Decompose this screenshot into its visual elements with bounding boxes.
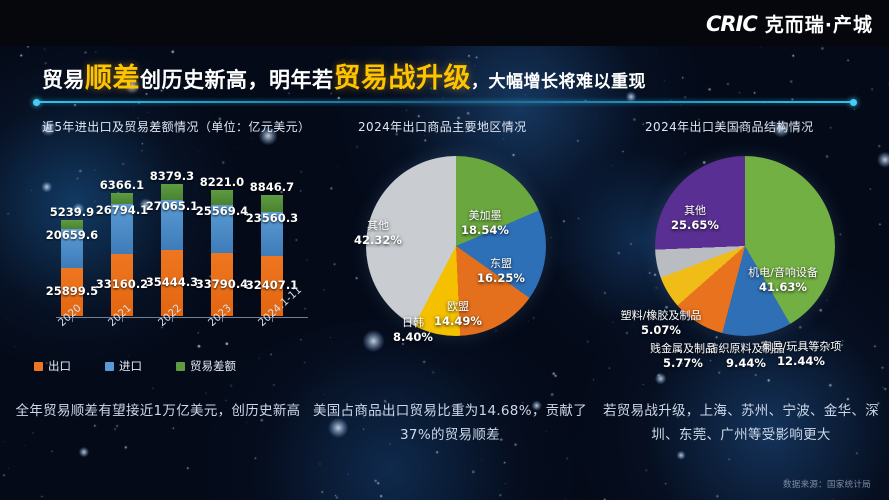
bar-segment-surplus[interactable]: 8379.3 — [161, 184, 183, 200]
pie-slice-value: 14.49% — [434, 314, 482, 328]
bar-value-label: 33790.4 — [196, 277, 248, 291]
pie-slice-name: 其他 — [671, 204, 719, 218]
bar-value-label: 23560.3 — [246, 211, 298, 225]
bar-segment-import[interactable]: 20659.6 — [61, 229, 83, 267]
legend-item[interactable]: 进口 — [105, 358, 142, 374]
pie-slice-value: 42.32% — [354, 233, 402, 247]
structure-pie-panel: 2024年出口美国商品结构情况 机电/音响设备41.63%家具/玩具等杂项12.… — [603, 118, 889, 380]
pie-slice-label: 塑料/橡胶及制品5.07% — [621, 309, 702, 337]
pie-slice-name: 塑料/橡胶及制品 — [621, 309, 702, 323]
pie-slice-value: 18.54% — [461, 223, 509, 237]
caption-city-impact: 若贸易战升级，上海、苏州、宁波、金华、深圳、东莞、广州等受影响更大 — [596, 400, 886, 447]
bar-chart-plot: 5239.920659.625899.520206366.126794.1331… — [30, 148, 300, 348]
bar-value-label: 6366.1 — [100, 178, 144, 192]
title-part-5: ，大幅增长将难以重现 — [471, 72, 646, 92]
bar-value-label: 27065.1 — [146, 199, 198, 213]
legend-swatch — [176, 362, 185, 371]
legend-swatch — [34, 362, 43, 371]
pie-slice-label: 日韩8.40% — [393, 316, 433, 344]
title-part-3: 创历史新高，明年若 — [140, 68, 334, 92]
bar-segment-surplus[interactable]: 8846.7 — [261, 195, 283, 211]
pie-slice-value: 5.77% — [650, 356, 716, 370]
bar-value-label: 20659.6 — [46, 228, 98, 242]
pie-slice-label: 机电/音响设备41.63% — [748, 266, 818, 294]
legend-label: 出口 — [48, 358, 71, 374]
title-part-2: 顺差 — [85, 63, 140, 94]
pie-slice-label: 美加墨18.54% — [461, 209, 509, 237]
pie-slice-name: 美加墨 — [461, 209, 509, 223]
data-source-note: 数据来源：国家统计局 — [783, 478, 871, 490]
bar-value-label: 8221.0 — [200, 175, 244, 189]
bar-value-label: 8379.3 — [150, 169, 194, 183]
legend-label: 贸易差额 — [190, 358, 236, 374]
pie-slice-value: 9.44% — [708, 356, 785, 370]
bar-chart-legend: 出口进口贸易差额 — [34, 358, 236, 374]
logo-name: 克而瑞·产城 — [765, 10, 873, 37]
bar-value-label: 25899.5 — [46, 284, 98, 298]
pie-slice-label: 其他42.32% — [354, 219, 402, 247]
region-pie-panel: 2024年出口商品主要地区情况 美加墨18.54%东盟16.25%欧盟14.49… — [318, 118, 603, 380]
pie-slice-label: 其他25.65% — [671, 204, 719, 232]
legend-item[interactable]: 贸易差额 — [176, 358, 236, 374]
bar-segment-surplus[interactable]: 8221.0 — [211, 190, 233, 205]
bar-value-label: 8846.7 — [250, 180, 294, 194]
legend-item[interactable]: 出口 — [34, 358, 71, 374]
brand-logo: CRIC 克而瑞·产城 — [706, 10, 873, 37]
pie-slice-name: 机电/音响设备 — [748, 266, 818, 280]
pie-slice-name: 纺织原料及制品 — [708, 342, 785, 356]
pie-slice-label: 纺织原料及制品9.44% — [708, 342, 785, 370]
legend-swatch — [105, 362, 114, 371]
bar-segment-import[interactable]: 25569.4 — [211, 205, 233, 253]
pie-slice-label: 贱金属及制品5.77% — [650, 342, 716, 370]
caption-us-share: 美国占商品出口贸易比重为14.68%，贡献了37%的贸易顺差 — [300, 400, 600, 447]
region-pie-title: 2024年出口商品主要地区情况 — [358, 118, 527, 135]
pie-slice-label: 东盟16.25% — [477, 257, 525, 285]
logo-mark: CRIC — [706, 12, 757, 36]
bar-value-label: 25569.4 — [196, 204, 248, 218]
pie-slice-name: 其他 — [354, 219, 402, 233]
bar-value-label: 33160.2 — [96, 277, 148, 291]
bar-group[interactable]: 8379.327065.135444.3 — [161, 184, 183, 316]
bar-segment-import[interactable]: 26794.1 — [111, 204, 133, 254]
pie-slice-name: 东盟 — [477, 257, 525, 271]
caption-trade-surplus: 全年贸易顺差有望接近1万亿美元，创历史新高 — [8, 400, 308, 424]
page-title: 贸易顺差创历史新高，明年若贸易战升级，大幅增长将难以重现 — [42, 56, 646, 95]
pie-slice-name: 贱金属及制品 — [650, 342, 716, 356]
pie-slice-value: 8.40% — [393, 330, 433, 344]
pie-slice-value: 16.25% — [477, 271, 525, 285]
bar-segment-import[interactable]: 27065.1 — [161, 200, 183, 250]
bar-segment-import[interactable]: 23560.3 — [261, 212, 283, 256]
title-part-1: 贸易 — [42, 68, 85, 92]
bar-value-label: 26794.1 — [96, 203, 148, 217]
pie-slice-name: 欧盟 — [434, 300, 482, 314]
legend-label: 进口 — [119, 358, 142, 374]
pie-slice-value: 5.07% — [621, 323, 702, 337]
bar-value-label: 5239.9 — [50, 205, 94, 219]
bar-chart-panel: 近5年进出口及贸易差额情况（单位：亿元美元） 5239.920659.62589… — [0, 118, 318, 380]
pie-slice-value: 25.65% — [671, 218, 719, 232]
bar-value-label: 35444.3 — [146, 275, 198, 289]
bar-chart-title: 近5年进出口及贸易差额情况（单位：亿元美元） — [42, 118, 310, 135]
pie-slice-name: 日韩 — [393, 316, 433, 330]
title-divider — [36, 101, 854, 103]
title-part-4: 贸易战升级 — [334, 63, 472, 94]
structure-pie-title: 2024年出口美国商品结构情况 — [645, 118, 814, 135]
pie-slice-value: 41.63% — [748, 280, 818, 294]
bar-group[interactable]: 5239.920659.625899.5 — [61, 220, 83, 316]
bar-group[interactable]: 8221.025569.433790.4 — [211, 190, 233, 316]
bar-group[interactable]: 6366.126794.133160.2 — [111, 193, 133, 316]
pie-slice-label: 欧盟14.49% — [434, 300, 482, 328]
